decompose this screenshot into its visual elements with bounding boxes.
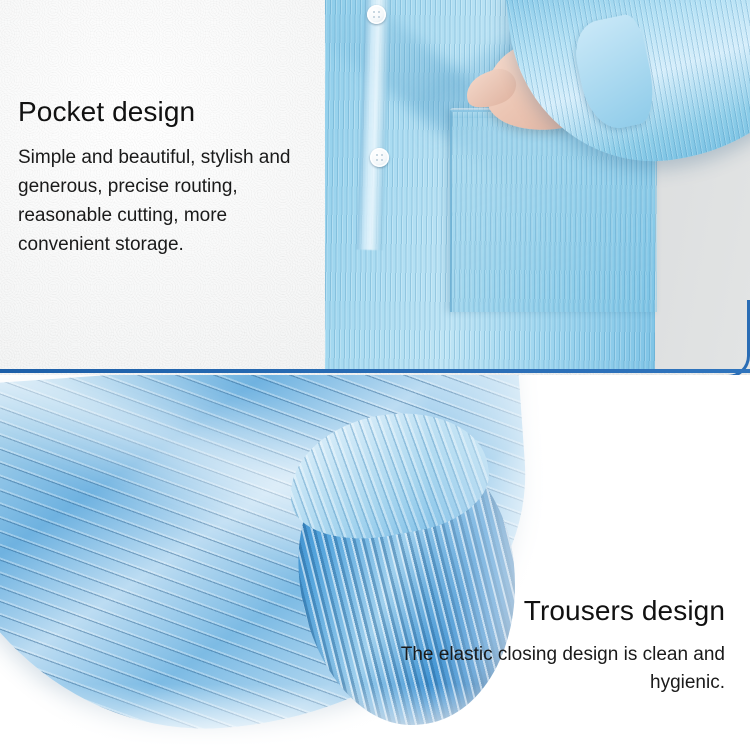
pocket-headline: Pocket design: [18, 96, 318, 128]
product-feature-image: Pocket design Simple and beautiful, styl…: [0, 0, 750, 750]
panel-divider-rule: [0, 369, 750, 373]
trousers-copy-block: Trousers design The elastic closing desi…: [395, 595, 725, 696]
trousers-headline: Trousers design: [395, 595, 725, 627]
shirt-button-upper: [367, 5, 386, 24]
pocket-copy-block: Pocket design Simple and beautiful, styl…: [18, 96, 318, 260]
shirt-button-lower: [370, 148, 389, 167]
frame-corner-bottom-right: [661, 300, 750, 375]
pocket-body-text: Simple and beautiful, stylish and genero…: [18, 144, 318, 260]
panel-pocket-design: Pocket design Simple and beautiful, styl…: [0, 0, 750, 375]
trousers-body-text: The elastic closing design is clean and …: [395, 641, 725, 696]
